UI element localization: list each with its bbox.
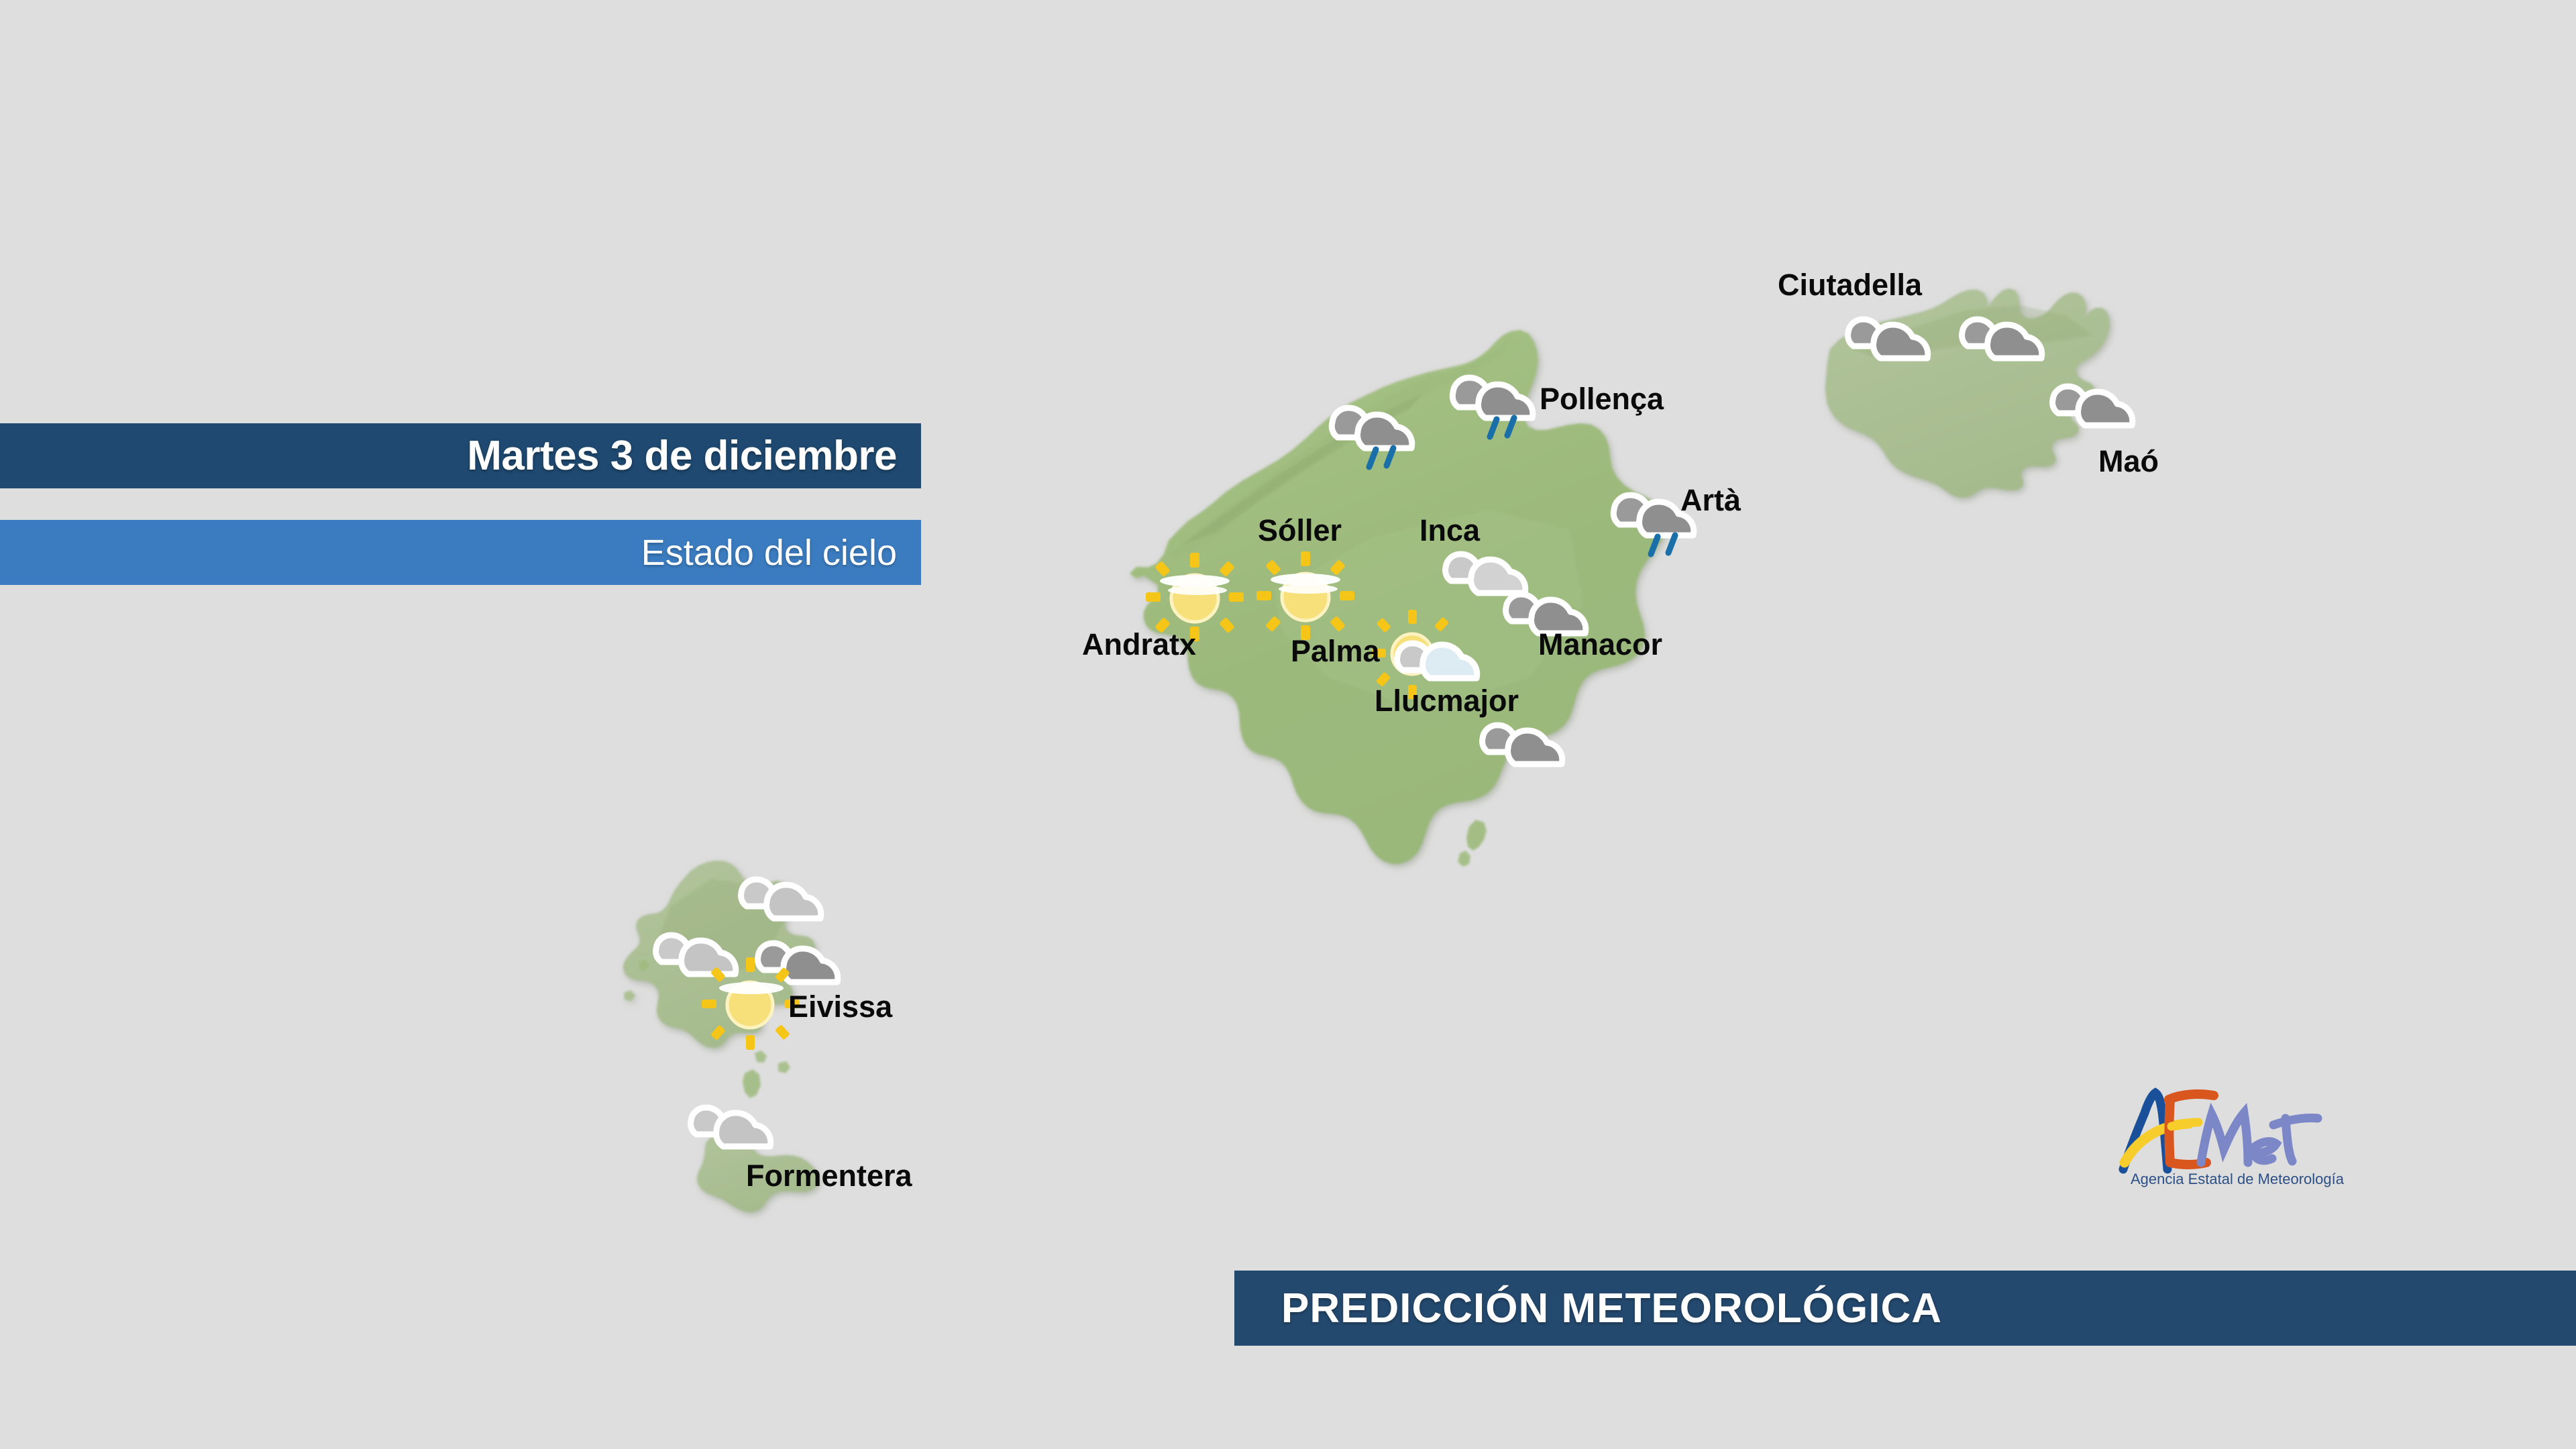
logo-word-met-icon xyxy=(2201,1113,2318,1163)
city-label-manacor: Manacor xyxy=(1538,629,1662,659)
city-label-inca: Inca xyxy=(1419,515,1480,545)
city-label-llucmajor: Llucmajor xyxy=(1375,686,1519,716)
aemet-logo xyxy=(2116,1083,2345,1181)
city-label-soller: Sóller xyxy=(1258,515,1342,545)
island-cabrera xyxy=(1458,820,1487,867)
footer-banner: PREDICCIÓN METEOROLÓGICA xyxy=(1234,1271,2576,1346)
weather-icon-soller xyxy=(1308,382,1436,480)
weather-icon-pollenca xyxy=(1429,352,1556,449)
city-label-ciutadella: Ciutadella xyxy=(1778,270,1922,300)
subtitle-banner: Estado del cielo xyxy=(0,520,921,585)
weather-icon-mao xyxy=(2033,362,2160,453)
balearic-islands-map xyxy=(0,0,2576,1449)
logo-caption: Agencia Estatal de Meteorología xyxy=(2123,1171,2351,1188)
city-label-palma: Palma xyxy=(1291,636,1380,666)
city-label-pollenca: Pollença xyxy=(1540,384,1664,414)
weather-icon-ciutadella xyxy=(1828,295,1955,386)
forecast-map-canvas: Pollença Sóller Inca Artà Manacor Andrat… xyxy=(0,0,2576,1449)
date-banner: Martes 3 de diciembre xyxy=(0,423,921,488)
city-label-arta: Artà xyxy=(1680,485,1741,515)
footer-title: PREDICCIÓN METEOROLÓGICA xyxy=(1281,1285,1942,1332)
city-label-andratx: Andratx xyxy=(1082,629,1196,659)
city-label-mao: Maó xyxy=(2098,446,2159,476)
city-label-formentera: Formentera xyxy=(746,1161,912,1191)
subtitle-label: Estado del cielo xyxy=(641,532,897,574)
date-label: Martes 3 de diciembre xyxy=(467,432,897,480)
city-label-eivissa: Eivissa xyxy=(788,991,892,1022)
